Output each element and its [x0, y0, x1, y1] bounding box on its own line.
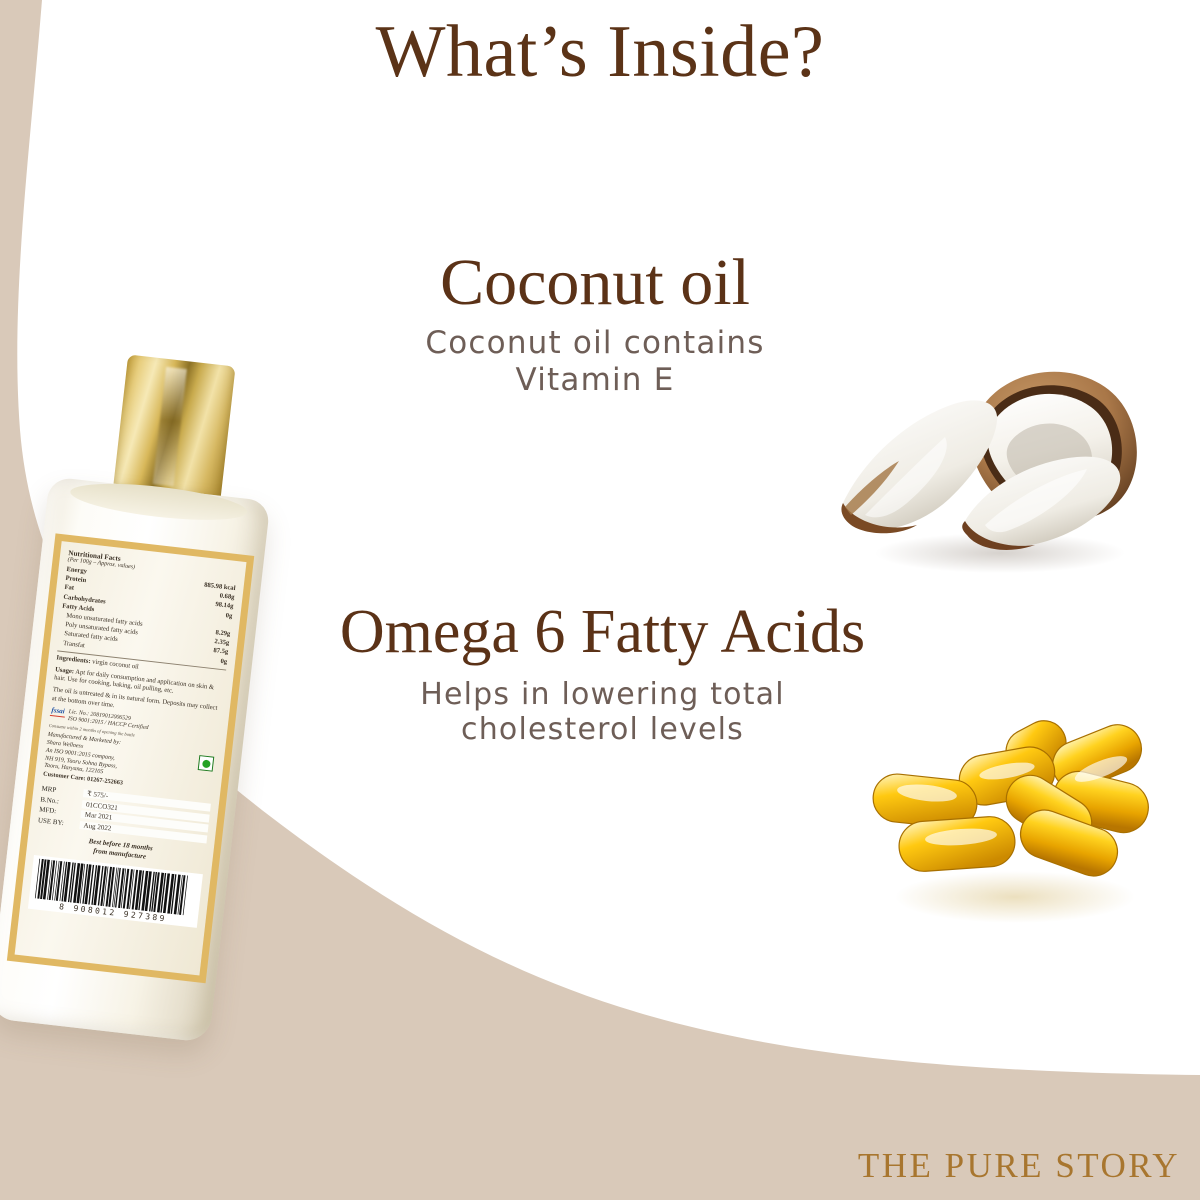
barcode-area: 8 908012 927389 [28, 855, 203, 928]
fssai-logo-icon: fssai [50, 707, 66, 717]
nutritional-facts-table: Energy885.98 kcalProtein0.68gFat98.14gCa… [58, 565, 236, 666]
ingredients-value: virgin coconut oil [90, 658, 139, 670]
vegetarian-mark-icon [198, 755, 215, 772]
usage-label: Usage: [55, 666, 75, 675]
section-heading-omega-6: Omega 6 Fatty Acids [180, 600, 1025, 665]
section-heading-coconut-oil: Coconut oil [250, 248, 940, 317]
page-title: What’s Inside? [0, 6, 1200, 98]
coconut-halves-image [825, 325, 1155, 585]
bottle-cap-gold [112, 354, 235, 505]
omega-capsules-image [855, 715, 1165, 935]
ingredients-label: Ingredients: [56, 654, 91, 665]
label-field-key: USE BY: [38, 816, 81, 829]
section-subtitle-line-1: Helps in lowering total [180, 677, 1025, 712]
brand-wordmark: THE PURE STORY [858, 1146, 1180, 1186]
poster-canvas: What’s Inside? Coconut oil Coconut oil c… [0, 0, 1200, 1200]
